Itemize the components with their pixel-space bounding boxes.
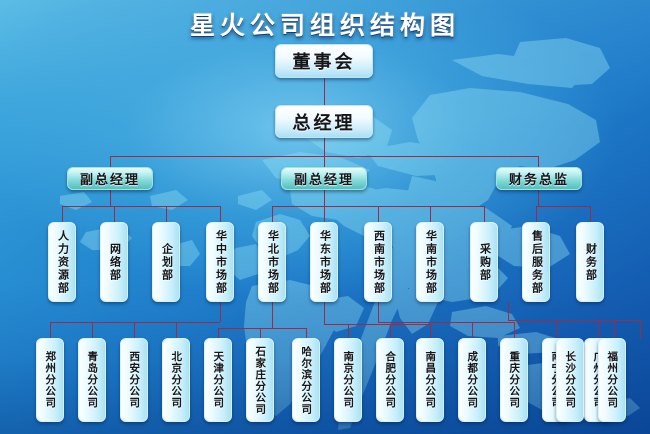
connector-br-fuzhou (614, 320, 615, 338)
connector-br-hefei (390, 324, 391, 338)
node-branch-beijing[interactable]: 北京分公司 (162, 338, 190, 422)
connector-br-tianjin (218, 328, 219, 338)
connector-br-shijiazhuang (260, 328, 261, 338)
connector-dept-service (536, 206, 537, 222)
node-vice-general-manager-2[interactable]: 副总经理 (281, 167, 367, 190)
connector-br-nanjing (348, 324, 349, 338)
node-dept-finance[interactable]: 财务部 (576, 222, 604, 302)
node-branch-zhengzhou[interactable]: 郑州分公司 (36, 338, 64, 422)
node-branch-fuzhou[interactable]: 福州分公司 (598, 338, 626, 422)
node-branch-shijiazhuang[interactable]: 石家庄分公司 (246, 338, 274, 422)
node-dept-service[interactable]: 售后服务部 (522, 222, 550, 302)
node-vice-general-manager-1[interactable]: 副总经理 (67, 167, 153, 190)
connector-huabei-bus (218, 328, 306, 329)
connector-exec-bus (110, 156, 538, 157)
connector-huadong-bus (324, 324, 430, 325)
node-dept-xinan[interactable]: 西南市场部 (364, 222, 392, 302)
connector-vgm1-bus (62, 206, 220, 207)
node-dept-huabei[interactable]: 华北市场部 (258, 222, 286, 302)
node-branch-hefei[interactable]: 合肥分公司 (376, 338, 404, 422)
connector-vgm2-drop (324, 190, 325, 206)
connector-board-to-gm (324, 78, 325, 105)
connector-br-qingdao (92, 322, 93, 338)
connector-dept-huadong (324, 206, 325, 222)
connector-br-xian (134, 322, 135, 338)
connector-br-zhengzhou (50, 322, 51, 338)
connector-br-nanning (556, 320, 557, 338)
node-branch-qingdao[interactable]: 青岛分公司 (78, 338, 106, 422)
connector-huazhong-bus (50, 322, 220, 323)
node-branch-nanjing[interactable]: 南京分公司 (334, 338, 362, 422)
connector-xinan-bus2 (472, 322, 514, 323)
connector-dept-hr (62, 206, 63, 222)
connector-huazhong-drop (220, 302, 221, 322)
connector-dept-huanan (430, 206, 431, 222)
connector-vgm2-bus (272, 206, 484, 207)
page-title: 星火公司组织结构图 (0, 6, 650, 42)
connector-br-chongqing (514, 322, 515, 338)
connector-br-nanchang (430, 324, 431, 338)
connector-dept-huabei (272, 206, 273, 222)
connector-br-changsha (640, 320, 641, 338)
connector-dept-planning (166, 206, 167, 222)
connector-dept-purchase (484, 206, 485, 222)
node-branch-changsha[interactable]: 长沙分公司 (556, 338, 584, 422)
connector-cfo-bus (536, 206, 590, 207)
node-branch-haerbin[interactable]: 哈尔滨分公司 (292, 338, 320, 422)
connector-dept-network (114, 206, 115, 222)
connector-br-guangzhou (598, 320, 599, 338)
node-dept-huazhong[interactable]: 华中市场部 (206, 222, 234, 302)
node-dept-huadong[interactable]: 华东市场部 (310, 222, 338, 302)
connector-huanan-drop (508, 302, 509, 320)
connector-xinan-bus (378, 322, 472, 323)
connector-cfo-drop (538, 190, 539, 206)
connector-huadong-drop (324, 302, 325, 324)
connector-dept-huazhong (220, 206, 221, 222)
node-cfo[interactable]: 财务总监 (496, 167, 582, 190)
node-dept-purchase[interactable]: 采购部 (470, 222, 498, 302)
node-dept-hr[interactable]: 人力资源部 (48, 222, 76, 302)
connector-br-haerbin (306, 328, 307, 338)
connector-dept-finance (590, 206, 591, 222)
node-general-manager[interactable]: 总经理 (275, 105, 373, 138)
connector-br-beijing (176, 322, 177, 338)
connector-dept-xinan (378, 206, 379, 222)
node-dept-huanan[interactable]: 华南市场部 (416, 222, 444, 302)
connector-br-chengdu (472, 322, 473, 338)
node-dept-planning[interactable]: 企划部 (152, 222, 180, 302)
connector-huabei-drop (272, 302, 273, 328)
node-branch-chengdu[interactable]: 成都分公司 (458, 338, 486, 422)
connector-xinan-drop (378, 302, 379, 322)
connector-gm-drop (324, 138, 325, 156)
node-board[interactable]: 董事会 (275, 44, 373, 78)
node-branch-xian[interactable]: 西安分公司 (120, 338, 148, 422)
node-dept-network[interactable]: 网络部 (100, 222, 128, 302)
org-chart-canvas: 星火公司组织结构图 (0, 0, 650, 434)
node-branch-chongqing[interactable]: 重庆分公司 (500, 338, 528, 422)
node-branch-nanchang[interactable]: 南昌分公司 (416, 338, 444, 422)
connector-vgm1-drop (110, 190, 111, 206)
node-branch-tianjin[interactable]: 天津分公司 (204, 338, 232, 422)
connector-huanan-bus (508, 320, 640, 321)
